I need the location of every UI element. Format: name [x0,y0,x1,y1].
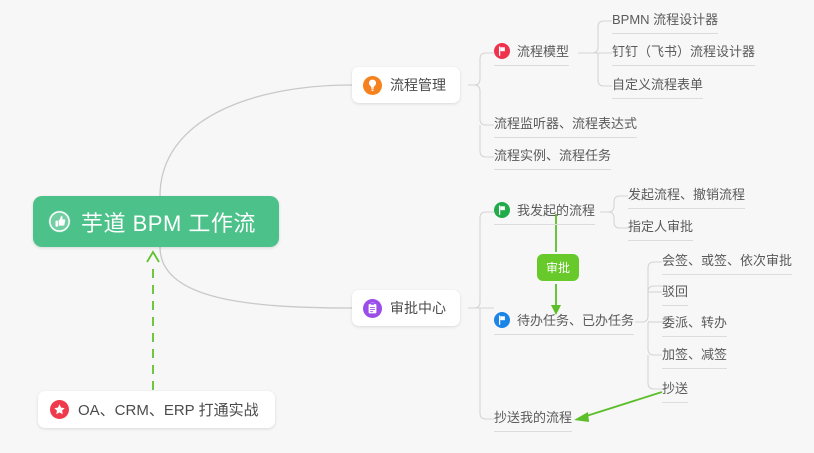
node-start-cancel-process[interactable]: 发起流程、撤销流程 [628,184,745,209]
lightbulb-icon [363,76,382,95]
wire-approval-center-to-my-processes [468,212,494,308]
node-add-remove-sign[interactable]: 加签、减签 [662,344,727,369]
node-label: 会签、或签、依次审批 [662,250,792,269]
branch-approval-center[interactable]: 审批中心 [352,290,460,326]
node-cc-to-me-processes[interactable]: 抄送我的流程 [494,407,572,432]
clipboard-icon [363,299,382,318]
node-label: 加签、减签 [662,344,727,363]
node-reject[interactable]: 驳回 [662,281,688,306]
node-countersign-or-sequential[interactable]: 会签、或签、依次审批 [662,250,792,275]
node-label: 钉钉（飞书）流程设计器 [612,41,755,60]
node-process-listener-expression[interactable]: 流程监听器、流程表达式 [494,113,637,138]
node-my-initiated-processes[interactable]: 我发起的流程 [494,200,595,225]
branch-label: 审批中心 [390,298,446,318]
wire-approval-center-to-cc-processes [480,308,494,419]
node-assignee-approval[interactable]: 指定人审批 [628,216,693,241]
node-label: 抄送我的流程 [494,407,572,426]
wire-process-management-to-process-model [468,53,494,85]
arrow-cc-line [580,392,662,418]
wire-todo-to-countersign [635,262,662,322]
arrow-cc-head [574,412,589,422]
node-label: 驳回 [662,281,688,300]
wire-process-model-to-custom-form [598,53,612,86]
thumbs-up-icon [48,210,71,233]
root-label: 芋道 BPM 工作流 [81,206,256,238]
node-label: 抄送 [662,378,688,397]
node-label: 发起流程、撤销流程 [628,184,745,203]
node-label: BPMN 流程设计器 [612,9,718,28]
node-label: 自定义流程表单 [612,74,703,93]
node-label: 流程模型 [517,41,569,60]
node-dingtalk-feishu-designer[interactable]: 钉钉（飞书）流程设计器 [612,41,755,66]
arrow-integration-head [147,252,159,262]
node-label: 指定人审批 [628,216,693,235]
node-cc[interactable]: 抄送 [662,378,688,403]
node-todo-done-tasks[interactable]: 待办任务、已办任务 [494,310,634,335]
card-label: OA、CRM、ERP 打通实战 [78,399,259,420]
wire-my-processes-to-start-cancel [600,196,628,212]
node-process-instance-task[interactable]: 流程实例、流程任务 [494,145,611,170]
mindmap-canvas: 芋道 BPM 工作流 流程管理 审批中心 [0,0,814,453]
approve-badge[interactable]: 审批 [537,254,579,281]
node-custom-process-form[interactable]: 自定义流程表单 [612,74,703,99]
node-process-model[interactable]: 流程模型 [494,41,569,66]
wire-process-model-to-bpmn [578,21,612,53]
approve-badge-label: 审批 [546,261,570,275]
star-icon [50,400,69,419]
node-label: 委派、转办 [662,312,727,331]
wire-todo-to-cc [648,355,662,389]
node-label: 流程实例、流程任务 [494,145,611,164]
card-integration-practice[interactable]: OA、CRM、ERP 打通实战 [38,391,275,428]
root-node[interactable]: 芋道 BPM 工作流 [33,196,279,247]
wire-process-management-to-listener [468,85,494,125]
wire-my-processes-to-assignee [600,212,628,228]
node-label: 我发起的流程 [517,200,595,219]
wire-process-management-to-instance [480,125,494,157]
flag-icon [494,312,510,328]
branch-process-management[interactable]: 流程管理 [352,67,460,103]
node-label: 流程监听器、流程表达式 [494,113,637,132]
wire-root-to-process-management [160,85,352,196]
wire-todo-to-reject [648,286,662,316]
branch-label: 流程管理 [390,75,446,95]
node-bpmn-designer[interactable]: BPMN 流程设计器 [612,9,718,34]
node-label: 待办任务、已办任务 [517,310,634,329]
node-delegate-transfer[interactable]: 委派、转办 [662,312,727,337]
wire-todo-to-addsign [648,322,662,355]
flag-icon [494,43,510,59]
flag-icon [494,202,510,218]
wire-root-to-approval-center [160,247,352,308]
